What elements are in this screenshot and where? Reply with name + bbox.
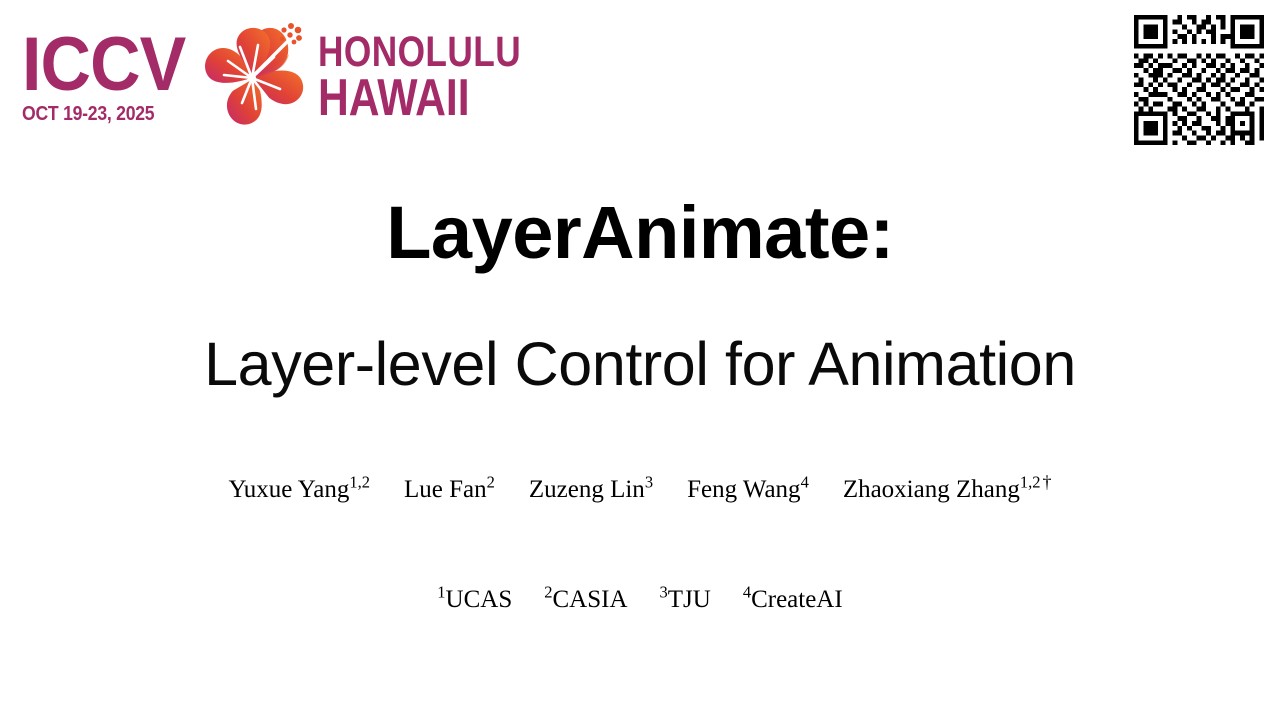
affiliation-index: 1 <box>437 583 445 602</box>
affiliation-list: 1UCAS2CASIA3TJU4CreateAI <box>0 586 1280 614</box>
paper-title: LayerAnimate: <box>0 196 1280 270</box>
author-affiliation-marker: 3 <box>645 473 653 492</box>
author-name: Lue Fan <box>404 476 487 503</box>
paper-subtitle: Layer-level Control for Animation <box>0 334 1280 395</box>
author-name: Zhaoxiang Zhang <box>843 476 1020 503</box>
logo-acronym-block: ICCV OCT 19-23, 2025 <box>22 32 200 125</box>
author-entry: Zuzeng Lin3 <box>529 476 653 504</box>
logo-state: HAWAII <box>318 72 521 125</box>
iccv-conference-logo: ICCV OCT 19-23, 2025 <box>22 14 442 144</box>
qr-code[interactable] <box>1128 10 1270 150</box>
conference-dates: OCT 19-23, 2025 <box>22 102 175 126</box>
author-entry: Zhaoxiang Zhang1,2† <box>843 476 1052 504</box>
author-affiliation-marker: 2 <box>487 473 495 492</box>
author-affiliation-marker: 1,2 <box>1020 473 1041 492</box>
author-list: Yuxue Yang1,2Lue Fan2Zuzeng Lin3Feng Wan… <box>0 476 1280 504</box>
logo-location-block: HONOLULU HAWAII <box>318 31 566 125</box>
author-affiliation-marker: 4 <box>801 473 809 492</box>
affiliation-name: UCAS <box>446 586 513 613</box>
affiliation-name: CASIA <box>552 586 627 613</box>
author-name: Feng Wang <box>687 476 801 503</box>
affiliation-entry: 4CreateAI <box>743 586 843 614</box>
author-name: Yuxue Yang <box>229 476 350 503</box>
hibiscus-flower-icon <box>202 17 314 135</box>
affiliation-name: CreateAI <box>751 586 843 613</box>
affiliation-index: 3 <box>660 583 668 602</box>
author-entry: Feng Wang4 <box>687 476 809 504</box>
author-entry: Yuxue Yang1,2 <box>229 476 370 504</box>
affiliation-name: TJU <box>668 586 711 613</box>
author-name: Zuzeng Lin <box>529 476 645 503</box>
affiliation-entry: 1UCAS <box>437 586 512 614</box>
affiliation-entry: 3TJU <box>660 586 711 614</box>
iccv-acronym: ICCV <box>22 32 185 97</box>
author-entry: Lue Fan2 <box>404 476 495 504</box>
affiliation-index: 4 <box>743 583 751 602</box>
author-affiliation-marker: 1,2 <box>349 473 370 492</box>
corresponding-author-marker: † <box>1042 472 1051 492</box>
affiliation-entry: 2CASIA <box>544 586 627 614</box>
presentation-slide: ICCV OCT 19-23, 2025 <box>0 0 1280 720</box>
